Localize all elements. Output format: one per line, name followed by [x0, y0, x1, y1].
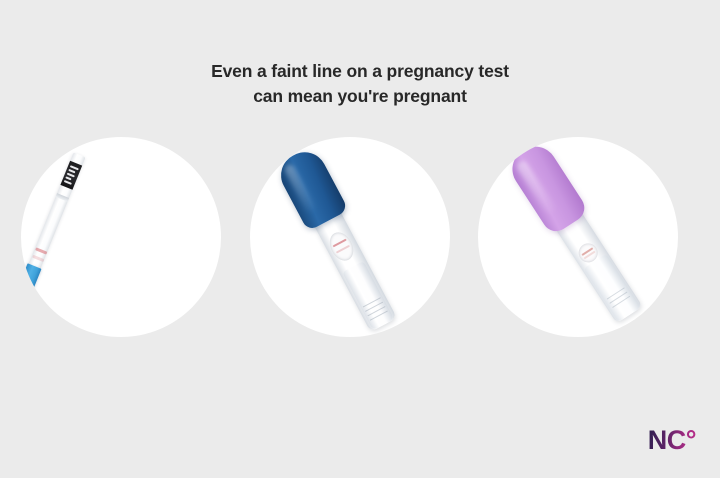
blue-cap-test-cap-highlight	[283, 163, 316, 214]
blue-cap-test-faint-line	[336, 245, 350, 254]
panel-blue-cap-test	[250, 137, 450, 337]
headline-line-2: can mean you're pregnant	[0, 84, 720, 109]
blue-cap-test-illustration	[250, 137, 450, 337]
panel-purple-cap-test	[478, 137, 678, 337]
strip-test-absorbent-pad	[21, 263, 42, 337]
blue-cap-test-device	[267, 146, 408, 335]
purple-cap-test-illustration	[478, 137, 678, 337]
page-title: Even a faint line on a pregnancy test ca…	[0, 59, 720, 109]
brand-logo: NC°	[648, 427, 696, 454]
headline-line-1: Even a faint line on a pregnancy test	[0, 59, 720, 84]
strip-test-label-text-marks	[63, 164, 80, 186]
purple-cap-test-taper	[583, 254, 641, 322]
strip-test-illustration	[21, 137, 221, 337]
strip-test-label	[60, 161, 82, 190]
purple-cap-test-device	[499, 141, 653, 330]
blue-cap-test-taper	[342, 261, 394, 331]
infographic-canvas: Even a faint line on a pregnancy test ca…	[0, 0, 720, 478]
strip-test-device	[21, 151, 90, 317]
purple-cap-test-cap-highlight	[515, 159, 557, 215]
panel-strip-test	[21, 137, 221, 337]
